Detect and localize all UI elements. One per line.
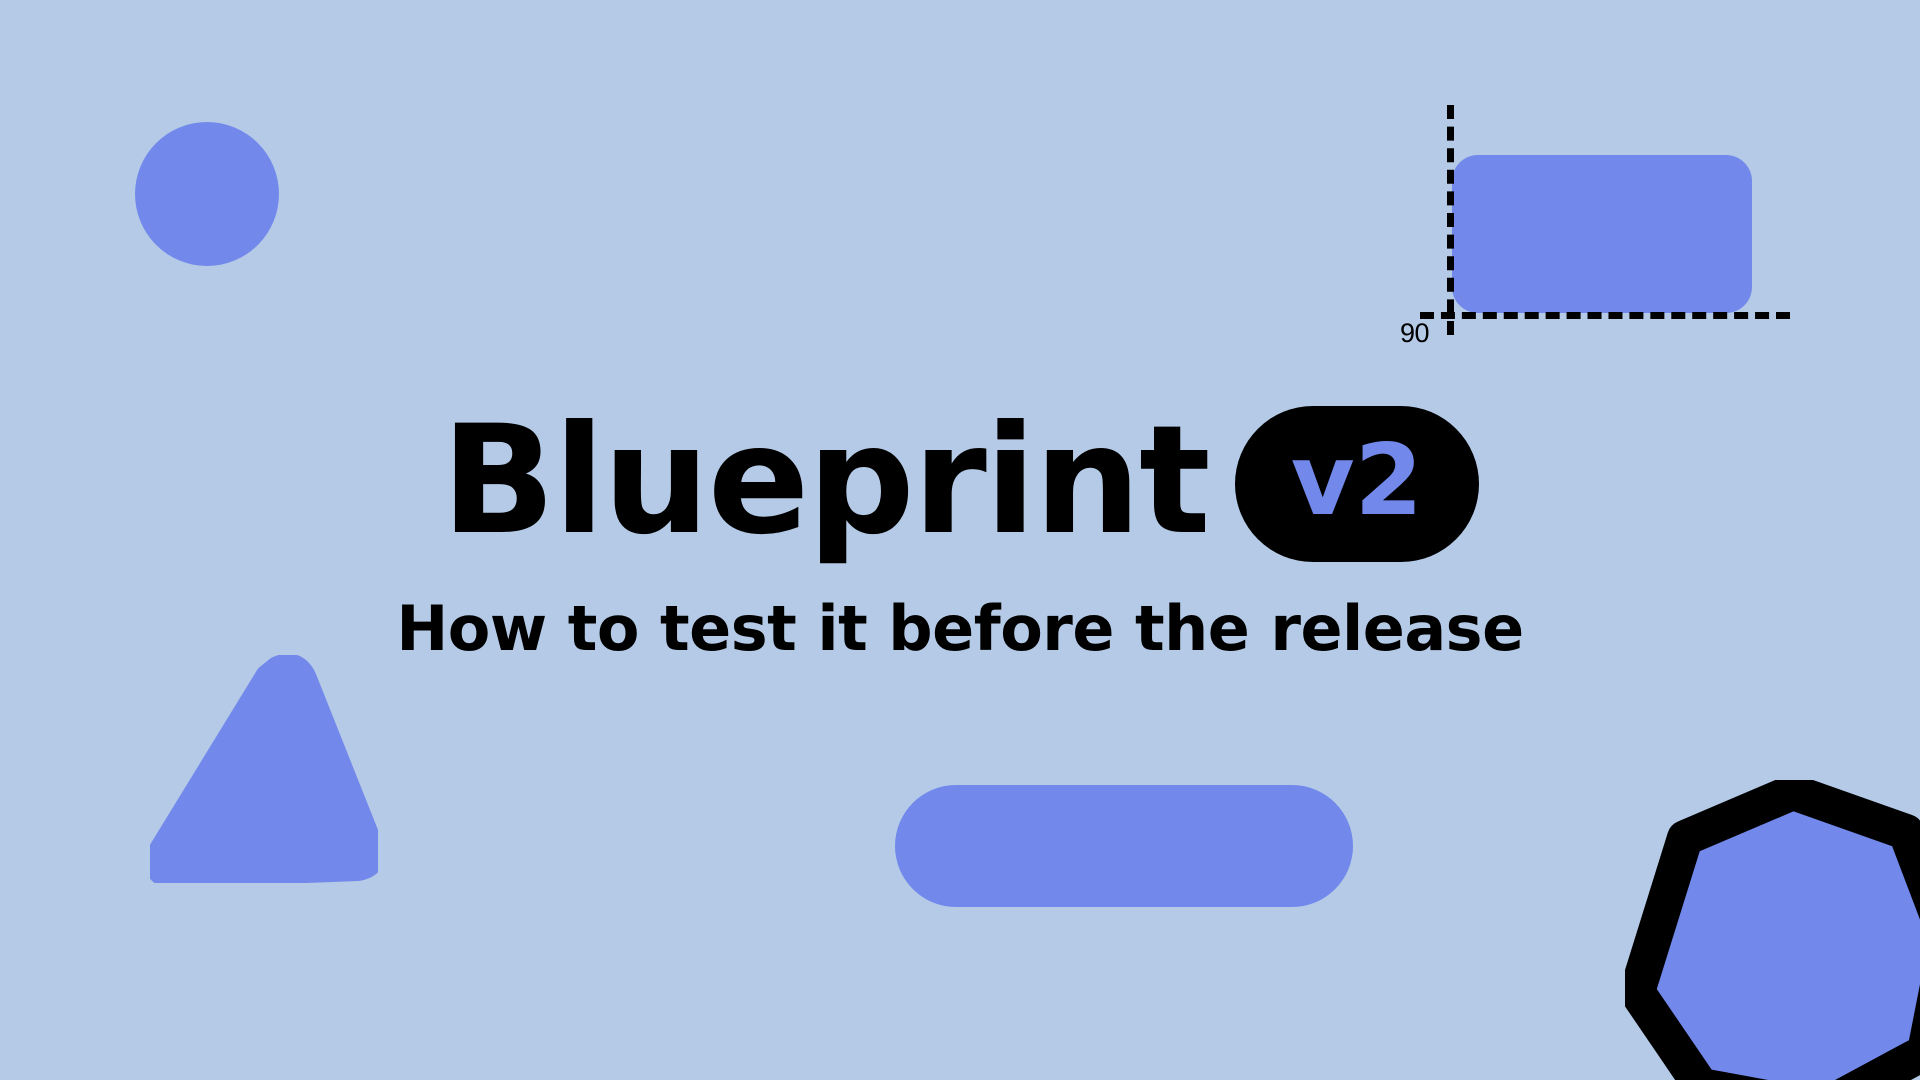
circle-shape bbox=[135, 122, 279, 266]
rounded-polygon-svg bbox=[1625, 780, 1920, 1080]
page-subtitle: How to test it before the release bbox=[396, 598, 1523, 660]
version-badge: v2 bbox=[1235, 406, 1479, 562]
chart-y-axis bbox=[1447, 105, 1454, 335]
slide-canvas: 90 Blueprint v2 How to test it before th… bbox=[0, 0, 1920, 1080]
rounded-polygon-outline-shape bbox=[1625, 780, 1920, 1080]
chart-axis-tick-label: 90 bbox=[1400, 318, 1429, 349]
mini-bar-chart: 90 bbox=[1400, 105, 1790, 320]
chart-x-axis bbox=[1420, 312, 1790, 319]
rounded-triangle-shape bbox=[150, 655, 378, 883]
chart-bar bbox=[1452, 155, 1752, 313]
page-title: Blueprint bbox=[441, 406, 1209, 556]
rounded-triangle-svg bbox=[150, 655, 378, 883]
title-row: Blueprint v2 bbox=[441, 400, 1479, 562]
pill-shape bbox=[895, 785, 1353, 907]
